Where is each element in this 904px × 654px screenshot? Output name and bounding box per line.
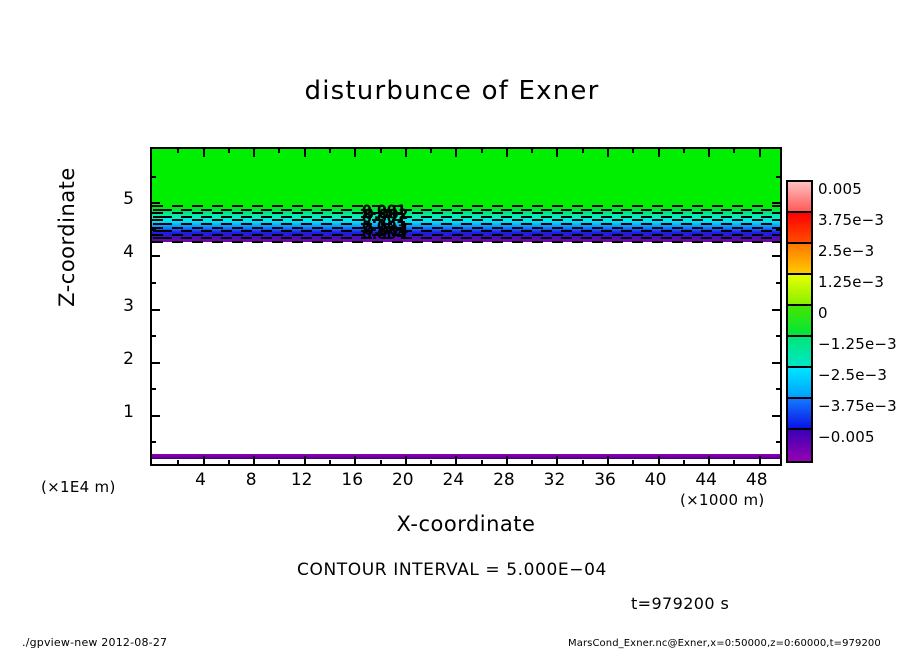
- x-axis-tick-label: 4: [181, 470, 221, 490]
- colorbar-tick-label: 0.005: [818, 180, 862, 198]
- contour-interval-caption: CONTOUR INTERVAL = 5.000E−04: [0, 560, 904, 580]
- x-axis-tick-label: 32: [534, 470, 574, 490]
- colorbar-tick-label: 2.5e−3: [818, 242, 874, 260]
- axis-tick: [776, 282, 781, 284]
- axis-tick: [772, 415, 781, 417]
- x-axis-unit-label: (×1000 m): [680, 491, 765, 509]
- colorbar-tick-label: 1.25e−3: [818, 273, 884, 291]
- axis-tick: [506, 456, 508, 465]
- axis-tick: [733, 460, 735, 465]
- x-axis-tick-label: 12: [282, 470, 322, 490]
- axis-tick: [772, 202, 781, 204]
- axis-tick: [708, 456, 710, 465]
- axis-tick: [278, 148, 280, 153]
- axis-tick: [455, 456, 457, 465]
- colorbar-band: [788, 399, 811, 430]
- colorbar-band: [788, 213, 811, 244]
- axis-tick: [776, 176, 781, 178]
- axis-tick: [405, 456, 407, 465]
- x-axis-title: X-coordinate: [150, 512, 782, 536]
- colorbar-band: [788, 182, 811, 213]
- axis-tick: [203, 148, 205, 157]
- axis-tick: [380, 460, 382, 465]
- page-title: disturbunce of Exner: [0, 76, 904, 106]
- plot-canvas: 0.0010.0020.0030.0040.0020.004: [152, 149, 780, 464]
- field-region-surface: [152, 454, 780, 459]
- colorbar: [786, 180, 813, 463]
- axis-tick: [607, 456, 609, 465]
- y-axis-tick-label: 1: [104, 402, 134, 422]
- axis-tick: [632, 460, 634, 465]
- plot-area: 0.0010.0020.0030.0040.0020.004: [150, 147, 782, 466]
- axis-tick: [253, 456, 255, 465]
- axis-tick: [683, 460, 685, 465]
- axis-tick: [354, 456, 356, 465]
- x-axis-tick-label: 48: [737, 470, 777, 490]
- axis-tick: [658, 456, 660, 465]
- axis-tick: [772, 255, 781, 257]
- axis-tick: [203, 456, 205, 465]
- y-axis-tick-label: 2: [104, 349, 134, 369]
- plot-page: disturbunce of Exner 0.0010.0020.0030.00…: [0, 0, 904, 654]
- field-region-gradient: [152, 207, 780, 242]
- axis-tick: [253, 148, 255, 157]
- axis-tick: [531, 148, 533, 153]
- x-axis-tick-label: 36: [585, 470, 625, 490]
- axis-tick: [151, 282, 156, 284]
- axis-tick: [430, 148, 432, 153]
- axis-tick: [776, 388, 781, 390]
- colorbar-tick-label: −2.5e−3: [818, 366, 887, 384]
- colorbar-band: [788, 368, 811, 399]
- colorbar-band: [788, 337, 811, 368]
- footer-datasource: MarsCond_Exner.nc@Exner,x=0:50000,z=0:60…: [568, 638, 881, 649]
- axis-tick: [506, 148, 508, 157]
- y-axis-tick-label: 3: [104, 296, 134, 316]
- axis-tick: [776, 335, 781, 337]
- colorbar-band: [788, 244, 811, 275]
- axis-tick: [228, 460, 230, 465]
- y-axis-tick-label: 4: [104, 242, 134, 262]
- axis-tick: [151, 229, 156, 231]
- colorbar-tick-label: 3.75e−3: [818, 211, 884, 229]
- timestamp-caption: t=979200 s: [631, 594, 729, 613]
- x-axis-tick-label: 40: [636, 470, 676, 490]
- colorbar-band: [788, 306, 811, 337]
- x-axis-tick-label: 24: [433, 470, 473, 490]
- axis-tick: [304, 456, 306, 465]
- axis-tick: [776, 229, 781, 231]
- axis-tick: [151, 176, 156, 178]
- axis-tick: [151, 309, 160, 311]
- axis-tick: [329, 148, 331, 153]
- axis-tick: [405, 148, 407, 157]
- axis-tick: [151, 388, 156, 390]
- axis-tick: [733, 148, 735, 153]
- colorbar-tick-label: −1.25e−3: [818, 335, 897, 353]
- axis-tick: [151, 415, 160, 417]
- y-axis-tick-label: 5: [104, 189, 134, 209]
- axis-tick: [481, 460, 483, 465]
- contour-label: 0.004: [364, 223, 408, 239]
- axis-tick: [151, 335, 156, 337]
- colorbar-tick-label: −0.005: [818, 428, 875, 446]
- axis-tick: [632, 148, 634, 153]
- axis-tick: [582, 148, 584, 153]
- axis-tick: [759, 456, 761, 465]
- x-axis-tick-label: 28: [484, 470, 524, 490]
- axis-tick: [607, 148, 609, 157]
- axis-tick: [151, 202, 160, 204]
- axis-tick: [430, 460, 432, 465]
- axis-tick: [708, 148, 710, 157]
- axis-tick: [772, 309, 781, 311]
- axis-tick: [531, 460, 533, 465]
- colorbar-tick-label: 0: [818, 304, 828, 322]
- axis-tick: [380, 148, 382, 153]
- axis-tick: [556, 456, 558, 465]
- footer-command: ./gpview-new 2012-08-27: [22, 636, 167, 649]
- axis-tick: [151, 441, 156, 443]
- axis-tick: [304, 148, 306, 157]
- colorbar-tick-label: −3.75e−3: [818, 397, 897, 415]
- axis-tick: [683, 148, 685, 153]
- x-axis-tick-label: 8: [231, 470, 271, 490]
- axis-tick: [759, 148, 761, 157]
- colorbar-band: [788, 275, 811, 306]
- contour-label: 0.002: [364, 207, 408, 223]
- axis-tick: [776, 441, 781, 443]
- axis-tick: [151, 362, 160, 364]
- x-axis-tick-label: 16: [332, 470, 372, 490]
- y-axis-unit-label: (×1E4 m): [41, 478, 116, 496]
- axis-tick: [658, 148, 660, 157]
- axis-tick: [772, 362, 781, 364]
- field-region-uniform: [152, 149, 780, 207]
- axis-tick: [177, 460, 179, 465]
- x-axis-tick-label: 44: [686, 470, 726, 490]
- axis-tick: [455, 148, 457, 157]
- colorbar-band: [788, 430, 811, 461]
- axis-tick: [354, 148, 356, 157]
- axis-tick: [329, 460, 331, 465]
- axis-tick: [228, 148, 230, 153]
- axis-tick: [151, 255, 160, 257]
- axis-tick: [278, 460, 280, 465]
- axis-tick: [481, 148, 483, 153]
- axis-tick: [582, 460, 584, 465]
- x-axis-tick-label: 20: [383, 470, 423, 490]
- axis-tick: [177, 148, 179, 153]
- axis-tick: [556, 148, 558, 157]
- y-axis-title: Z-coordinate: [55, 157, 79, 317]
